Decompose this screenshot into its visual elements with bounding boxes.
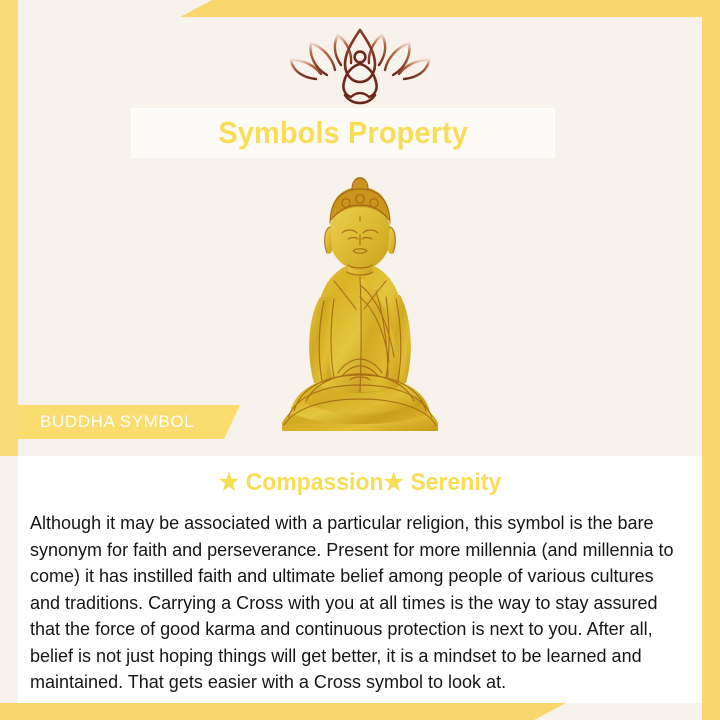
description-card: ★ Compassion★ Serenity Although it may b… [18, 456, 702, 703]
infographic-page: BUDDHA STONES [0, 0, 720, 720]
hero-image [18, 177, 702, 439]
symbol-tag-badge: BUDDHA SYMBOL [18, 405, 240, 439]
lotus-meditation-icon [285, 27, 435, 105]
description-paragraph: Although it may be associated with a par… [30, 510, 680, 696]
right-accent-band [702, 0, 720, 720]
title-banner: Symbols Property [132, 109, 554, 157]
left-accent-band [0, 0, 18, 456]
symbol-tag-label: BUDDHA SYMBOL [18, 412, 194, 432]
bottom-accent-band [0, 703, 566, 720]
top-accent-band [180, 0, 720, 17]
golden-seated-buddha-illustration [260, 177, 460, 439]
header-section: BUDDHA STONES [18, 17, 702, 455]
page-title: Symbols Property [218, 115, 468, 151]
attributes-line: ★ Compassion★ Serenity [35, 468, 685, 497]
